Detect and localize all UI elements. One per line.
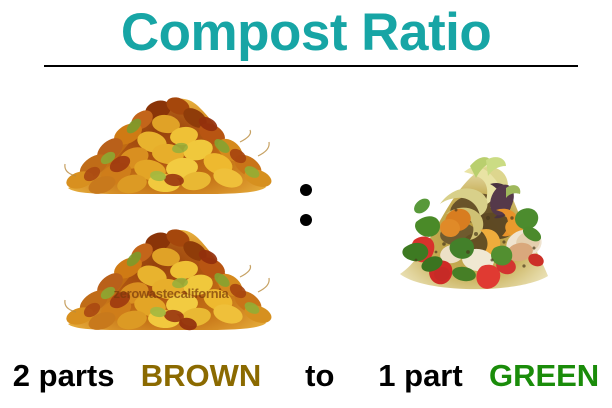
- caption-connector: to: [305, 358, 334, 393]
- caption-brown-label: BROWN: [141, 358, 262, 393]
- compost-ratio-slide: Compost Ratio: [0, 0, 612, 408]
- ratio-caption: 2 parts BROWN to 1 part GREEN: [0, 356, 612, 396]
- caption-green-label: GREEN: [489, 358, 599, 393]
- autumn-leaf-pile-image-1: [62, 84, 272, 196]
- title-divider: [44, 65, 578, 67]
- colon-dot-upper: [300, 184, 312, 196]
- caption-left-parts: 2 parts: [13, 358, 115, 393]
- ratio-colon-separator: [300, 184, 314, 230]
- caption-right-parts: 1 part: [378, 358, 462, 393]
- food-scraps-pile-image: [386, 148, 554, 294]
- autumn-leaf-pile-image-2: [62, 214, 272, 332]
- page-title: Compost Ratio: [0, 2, 612, 64]
- colon-dot-lower: [300, 214, 312, 226]
